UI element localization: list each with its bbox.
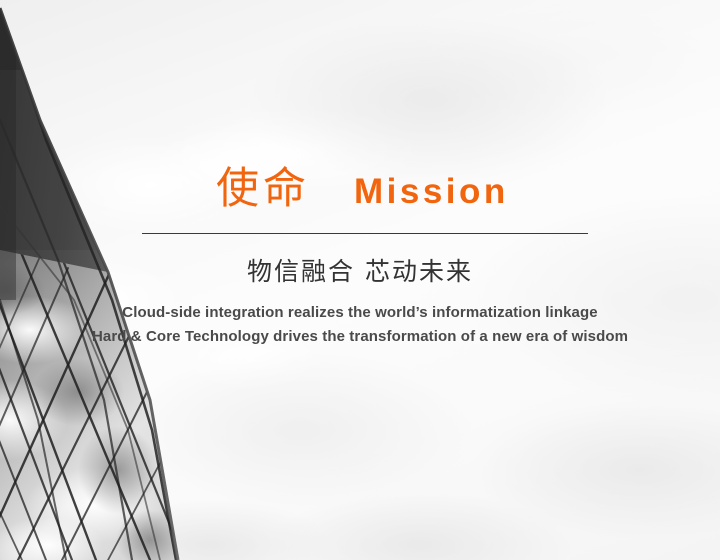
tagline-line-1: Cloud-side integration realizes the worl… [0, 303, 720, 323]
subtitle-chinese: 物信融合 芯动未来 [0, 256, 720, 287]
title-row: 使命 Mission [142, 168, 588, 211]
page-title-english: Mission [354, 174, 509, 209]
mission-banner: 使命 Mission 物信融合 芯动未来 Cloud-side integrat… [0, 0, 720, 560]
banner-content: 使命 Mission 物信融合 芯动未来 Cloud-side integrat… [0, 0, 720, 560]
title-divider [142, 233, 588, 234]
page-title-chinese: 使命 [216, 168, 310, 211]
tagline-line-2: Hard & Core Technology drives the transf… [0, 327, 720, 347]
